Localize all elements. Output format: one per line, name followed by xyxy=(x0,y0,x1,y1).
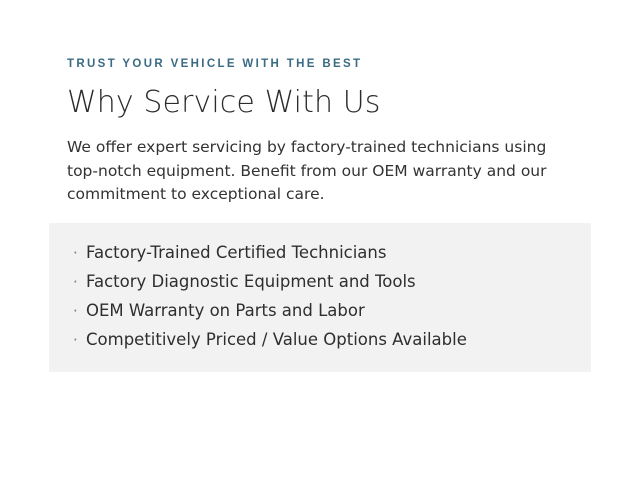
service-benefits-slide: TRUST YOUR VEHICLE WITH THE BEST Why Ser… xyxy=(0,0,640,480)
slide-text-content: TRUST YOUR VEHICLE WITH THE BEST Why Ser… xyxy=(67,58,597,207)
list-item-label: OEM Warranty on Parts and Labor xyxy=(86,303,365,320)
feature-list: · Factory-Trained Certified Technicians … xyxy=(49,223,591,349)
page-title: Why Service With Us xyxy=(67,84,597,122)
intro-paragraph: We offer expert servicing by factory-tra… xyxy=(67,136,559,207)
list-item-label: Factory-Trained Certified Technicians xyxy=(86,245,386,262)
feature-list-panel: · Factory-Trained Certified Technicians … xyxy=(49,223,591,372)
list-item: · Factory Diagnostic Equipment and Tools xyxy=(49,274,591,291)
list-item: · Competitively Priced / Value Options A… xyxy=(49,332,591,349)
list-item-label: Competitively Priced / Value Options Ava… xyxy=(86,332,467,349)
bullet-dot-icon: · xyxy=(73,246,86,261)
bullet-dot-icon: · xyxy=(73,304,86,319)
eyebrow-heading: TRUST YOUR VEHICLE WITH THE BEST xyxy=(67,58,597,72)
bullet-dot-icon: · xyxy=(73,275,86,290)
list-item-label: Factory Diagnostic Equipment and Tools xyxy=(86,274,416,291)
list-item: · Factory-Trained Certified Technicians xyxy=(49,245,591,262)
list-item: · OEM Warranty on Parts and Labor xyxy=(49,303,591,320)
bullet-dot-icon: · xyxy=(73,333,86,348)
